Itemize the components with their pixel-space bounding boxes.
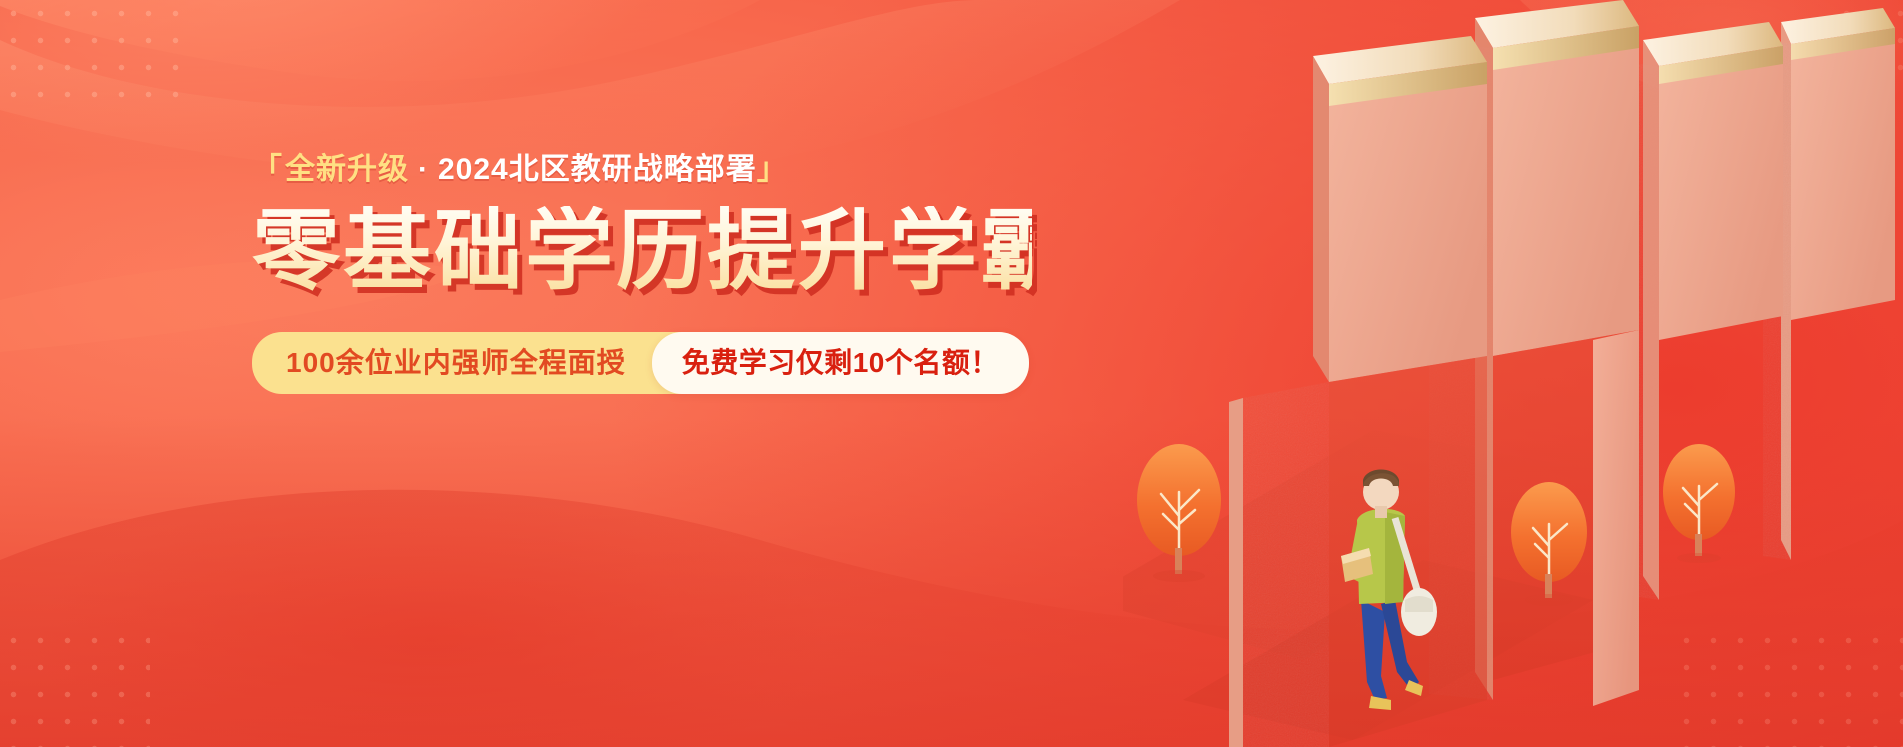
bracket-open: 「 bbox=[252, 153, 283, 186]
dot-pattern-top-right bbox=[1833, 0, 1903, 90]
pill-seats-remaining: 免费学习仅剩10个名额！ bbox=[652, 332, 1029, 394]
dot-pattern-bottom-right bbox=[1673, 627, 1903, 747]
highlight-pills: 100余位业内强师全程面授 免费学习仅剩10个名额！ bbox=[252, 332, 1029, 394]
eyebrow-text: 「全新升级·2024北区教研战略部署」 bbox=[252, 152, 1032, 188]
eyebrow-highlight: 全新升级 bbox=[285, 153, 409, 186]
eyebrow-separator: · bbox=[409, 153, 438, 186]
page-title: 零基础学历提升学霸班 bbox=[252, 206, 1032, 296]
eyebrow-rest: 2024北区教研战略部署 bbox=[438, 153, 757, 186]
dot-pattern-bottom-left bbox=[0, 627, 150, 747]
banner-copy: 「全新升级·2024北区教研战略部署」 零基础学历提升学霸班 100余位业内强师… bbox=[252, 152, 1032, 394]
bracket-close: 」 bbox=[757, 153, 788, 186]
promo-banner: 「全新升级·2024北区教研战略部署」 零基础学历提升学霸班 100余位业内强师… bbox=[0, 0, 1903, 747]
background-wash-bottom bbox=[0, 417, 1903, 747]
dot-pattern-top-left bbox=[0, 0, 190, 108]
